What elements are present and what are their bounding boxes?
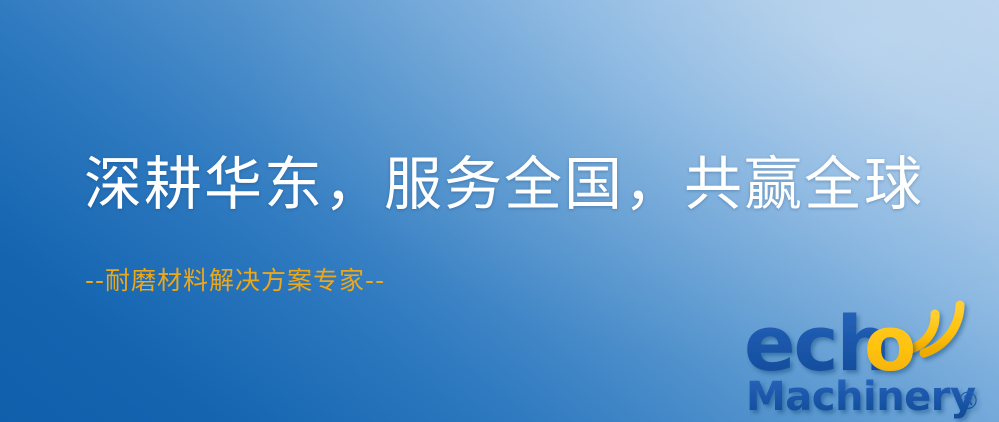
- promo-banner: 深耕华东，服务全国，共赢全球 --耐磨材料解决方案专家--: [0, 0, 999, 422]
- logo-artwork: ech o Machinery ®: [744, 300, 994, 422]
- logo-wordmark-machinery: Machinery ®: [746, 374, 980, 420]
- echo-wave-arcs: [910, 305, 960, 353]
- logo-machinery-text: Machinery: [746, 374, 976, 420]
- banner-subtitle: --耐磨材料解决方案专家--: [85, 266, 385, 296]
- banner-headline: 深耕华东，服务全国，共赢全球: [84, 152, 924, 217]
- echo-machinery-logo: ech o Machinery ®: [744, 300, 994, 422]
- logo-registered-trademark-symbol: ®: [956, 387, 980, 415]
